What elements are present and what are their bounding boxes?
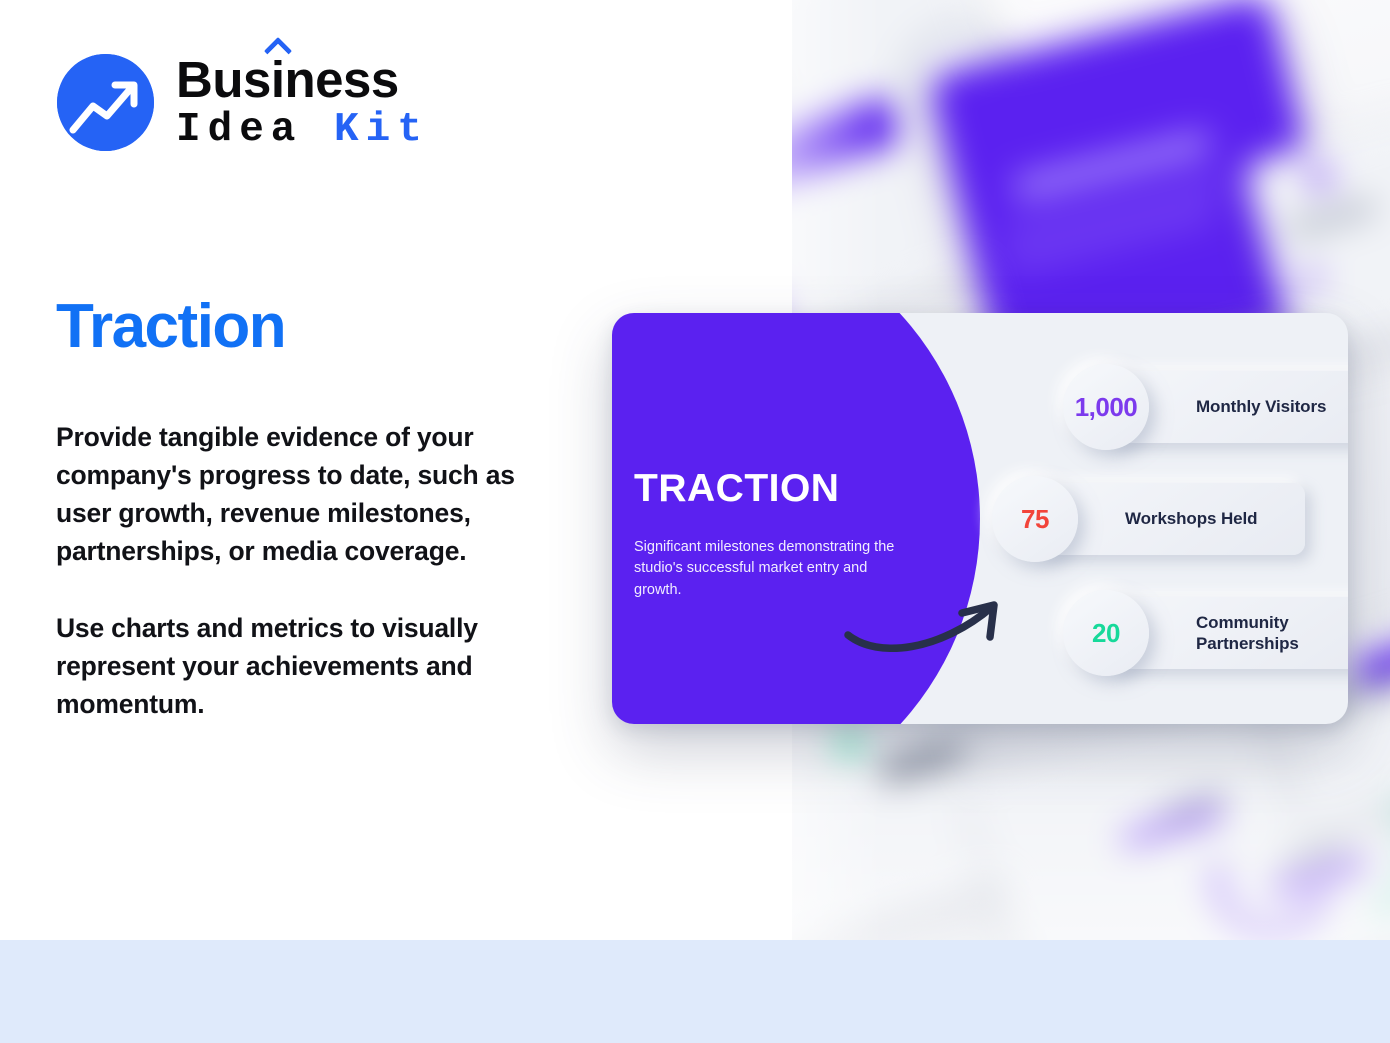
brand-name-part-after: ness	[285, 51, 399, 108]
metric-value: 20	[1092, 618, 1120, 649]
metric-row-workshops-held[interactable]: Workshops Held 75	[992, 476, 1305, 562]
brand-name-business: Business	[176, 54, 429, 105]
slide-subtitle: Significant milestones demonstrating the…	[634, 537, 902, 601]
brand-name-kit: Kit	[334, 107, 429, 153]
bottom-band	[0, 940, 1390, 1043]
slide-preview-page: Business Idea Kit Traction Provide tangi…	[0, 0, 1390, 1043]
description-paragraph-2: Use charts and metrics to visually repre…	[56, 609, 568, 723]
purple-circle-shape	[612, 313, 980, 724]
metric-value-circle: 75	[992, 476, 1078, 562]
brand-wordmark: Business Idea Kit	[176, 52, 429, 152]
brand-name-accented-i: i	[271, 54, 285, 105]
bg-mock-dot-1	[1307, 165, 1331, 189]
description-block: Provide tangible evidence of your compan…	[56, 418, 568, 723]
slide-title: TRACTION	[634, 469, 839, 508]
brand-logo: Business Idea Kit	[57, 52, 429, 152]
metric-value: 75	[1021, 504, 1049, 535]
metric-row-monthly-visitors[interactable]: Monthly Visitors 1,000	[1063, 364, 1348, 450]
metric-value-circle: 1,000	[1063, 364, 1149, 450]
metric-value: 1,000	[1075, 392, 1138, 423]
growth-chart-arrow-icon	[57, 54, 154, 151]
brand-name-idea-kit: Idea Kit	[176, 109, 429, 152]
metric-label: Community Partnerships	[1196, 612, 1316, 654]
background-fade-bottom	[792, 760, 1390, 940]
metric-value-circle: 20	[1063, 590, 1149, 676]
traction-slide-card[interactable]: TRACTION Significant milestones demonstr…	[612, 313, 1348, 724]
metric-label: Monthly Visitors	[1196, 396, 1326, 417]
bg-mock-dot-2	[1302, 270, 1320, 288]
brand-name-part-before: Bus	[176, 51, 271, 108]
description-paragraph-1: Provide tangible evidence of your compan…	[56, 418, 568, 571]
brand-name-idea: Idea	[176, 107, 302, 153]
metric-label: Workshops Held	[1125, 508, 1257, 529]
metric-row-community-partnerships[interactable]: Community Partnerships 20	[1063, 590, 1348, 676]
page-title: Traction	[56, 296, 285, 358]
